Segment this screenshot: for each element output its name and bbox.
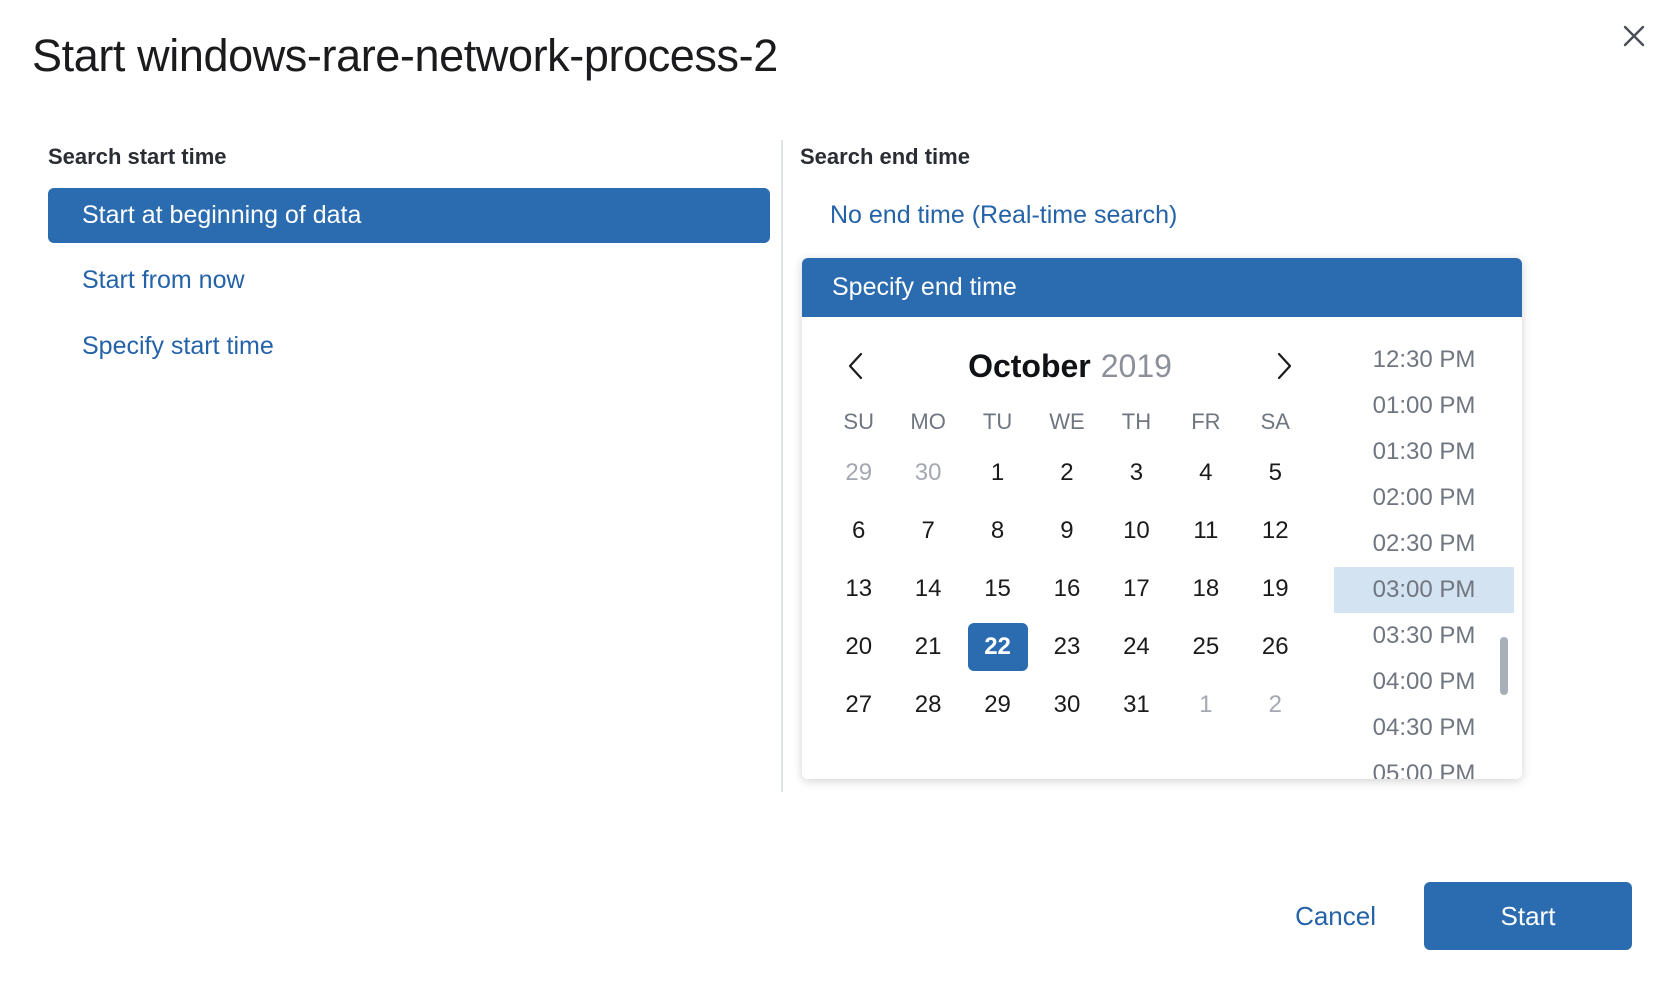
calendar-day-label: 27: [829, 681, 889, 729]
calendar-day[interactable]: 23: [1032, 621, 1101, 673]
calendar-day[interactable]: 12: [1241, 505, 1310, 557]
start-option-beginning-of-data[interactable]: Start at beginning of data: [48, 188, 770, 243]
calendar-day-label: 15: [968, 565, 1028, 613]
calendar-day-label: 20: [829, 623, 889, 671]
time-option[interactable]: 04:30 PM: [1334, 705, 1514, 751]
calendar-day[interactable]: 29: [963, 679, 1032, 731]
search-end-time-heading: Search end time: [800, 144, 1630, 170]
column-divider: [781, 140, 783, 792]
calendar-day[interactable]: 18: [1171, 563, 1240, 615]
calendar-day[interactable]: 30: [1032, 679, 1101, 731]
time-list-scrollbar[interactable]: [1500, 637, 1508, 695]
calendar-day-label: 7: [898, 507, 958, 555]
time-list-container: 12:30 PM01:00 PM01:30 PM02:00 PM02:30 PM…: [1320, 317, 1522, 779]
calendar-day[interactable]: 31: [1102, 679, 1171, 731]
start-button[interactable]: Start: [1424, 882, 1632, 950]
calendar-day-label: 28: [898, 681, 958, 729]
dialog-title: Start windows-rare-network-process-2: [32, 30, 778, 82]
time-option[interactable]: 01:00 PM: [1334, 383, 1514, 429]
calendar-day-label: 8: [968, 507, 1028, 555]
calendar-day[interactable]: 30: [893, 447, 962, 499]
dialog-footer: Cancel Start: [1291, 882, 1632, 950]
close-icon[interactable]: [1614, 16, 1654, 56]
start-option-specify-start-time[interactable]: Specify start time: [48, 319, 770, 374]
calendar-day[interactable]: 25: [1171, 621, 1240, 673]
calendar-day[interactable]: 28: [893, 679, 962, 731]
calendar-day[interactable]: 8: [963, 505, 1032, 557]
start-option-from-now[interactable]: Start from now: [48, 253, 770, 308]
calendar-day-label: 14: [898, 565, 958, 613]
calendar-day[interactable]: 1: [963, 447, 1032, 499]
end-option-specify-end-time[interactable]: Specify end time: [802, 258, 1522, 317]
calendar-day-label: 11: [1176, 507, 1236, 555]
calendar-day-label: 5: [1245, 449, 1305, 497]
calendar-day-label: 30: [898, 449, 958, 497]
calendar-day[interactable]: 7: [893, 505, 962, 557]
calendar-day[interactable]: 13: [824, 563, 893, 615]
calendar-day-label: 4: [1176, 449, 1236, 497]
calendar-day-label: 22: [968, 623, 1028, 671]
end-time-picker-card: Specify end time October2019: [802, 258, 1522, 779]
weekday-label: MO: [893, 403, 962, 441]
calendar-day[interactable]: 6: [824, 505, 893, 557]
search-end-time-column: Search end time No end time (Real-time s…: [800, 144, 1630, 253]
weekday-label: TU: [963, 403, 1032, 441]
calendar-day-label: 2: [1037, 449, 1097, 497]
calendar-day-label: 30: [1037, 681, 1097, 729]
end-option-no-end-time[interactable]: No end time (Real-time search): [800, 188, 1630, 243]
calendar-week-row: 293012345: [824, 447, 1310, 499]
calendar-grid: 2930123456789101112131415161718192021222…: [824, 447, 1310, 731]
calendar-day[interactable]: 16: [1032, 563, 1101, 615]
calendar-day[interactable]: 27: [824, 679, 893, 731]
calendar-day[interactable]: 2: [1241, 679, 1310, 731]
calendar-year: 2019: [1101, 348, 1172, 384]
time-option[interactable]: 02:00 PM: [1334, 475, 1514, 521]
weekday-label: SU: [824, 403, 893, 441]
calendar-title: October2019: [968, 348, 1172, 385]
calendar-day-label: 1: [1176, 681, 1236, 729]
calendar-day[interactable]: 1: [1171, 679, 1240, 731]
calendar-day[interactable]: 17: [1102, 563, 1171, 615]
end-time-option-list: No end time (Real-time search): [800, 188, 1630, 243]
calendar-day[interactable]: 24: [1102, 621, 1171, 673]
calendar-month: October: [968, 348, 1091, 384]
calendar-day-label: 9: [1037, 507, 1097, 555]
chevron-right-icon[interactable]: [1266, 348, 1302, 384]
calendar-day-label: 23: [1037, 623, 1097, 671]
calendar-day-label: 21: [898, 623, 958, 671]
calendar-day-label: 16: [1037, 565, 1097, 613]
start-time-option-list: Start at beginning of data Start from no…: [48, 188, 770, 374]
time-list: 12:30 PM01:00 PM01:30 PM02:00 PM02:30 PM…: [1320, 337, 1522, 779]
calendar-weekday-header: SU MO TU WE TH FR SA: [824, 403, 1310, 441]
calendar-day-label: 29: [829, 449, 889, 497]
time-option[interactable]: 02:30 PM: [1334, 521, 1514, 567]
calendar-day-label: 18: [1176, 565, 1236, 613]
calendar-day[interactable]: 29: [824, 447, 893, 499]
time-option[interactable]: 04:00 PM: [1334, 659, 1514, 705]
date-calendar: October2019 SU MO TU WE TH FR SA: [802, 317, 1320, 779]
search-start-time-column: Search start time Start at beginning of …: [48, 144, 770, 384]
calendar-day-label: 24: [1106, 623, 1166, 671]
calendar-day-label: 13: [829, 565, 889, 613]
picker-body: October2019 SU MO TU WE TH FR SA: [802, 317, 1522, 779]
calendar-day[interactable]: 14: [893, 563, 962, 615]
calendar-day[interactable]: 11: [1171, 505, 1240, 557]
time-option[interactable]: 01:30 PM: [1334, 429, 1514, 475]
calendar-day[interactable]: 5: [1241, 447, 1310, 499]
calendar-day-label: 25: [1176, 623, 1236, 671]
calendar-day-label: 10: [1106, 507, 1166, 555]
time-option[interactable]: 05:00 PM: [1334, 751, 1514, 779]
calendar-day-label: 26: [1245, 623, 1305, 671]
calendar-day-label: 31: [1106, 681, 1166, 729]
calendar-day[interactable]: 2: [1032, 447, 1101, 499]
calendar-day[interactable]: 26: [1241, 621, 1310, 673]
calendar-day[interactable]: 3: [1102, 447, 1171, 499]
calendar-day-label: 29: [968, 681, 1028, 729]
calendar-day-label: 12: [1245, 507, 1305, 555]
calendar-day[interactable]: 20: [824, 621, 893, 673]
calendar-header: October2019: [824, 335, 1310, 391]
calendar-day[interactable]: 15: [963, 563, 1032, 615]
time-option-selected[interactable]: 03:00 PM: [1334, 567, 1514, 613]
weekday-label: WE: [1032, 403, 1101, 441]
weekday-label: SA: [1241, 403, 1310, 441]
calendar-day[interactable]: 9: [1032, 505, 1101, 557]
chevron-left-icon[interactable]: [838, 348, 874, 384]
calendar-day[interactable]: 21: [893, 621, 962, 673]
calendar-day[interactable]: 19: [1241, 563, 1310, 615]
calendar-day-label: 3: [1106, 449, 1166, 497]
calendar-day[interactable]: 10: [1102, 505, 1171, 557]
calendar-day[interactable]: 4: [1171, 447, 1240, 499]
start-search-dialog: Start windows-rare-network-process-2 Sea…: [0, 0, 1666, 994]
weekday-label: TH: [1102, 403, 1171, 441]
calendar-day-label: 19: [1245, 565, 1305, 613]
calendar-day-label: 6: [829, 507, 889, 555]
calendar-week-row: 272829303112: [824, 679, 1310, 731]
weekday-label: FR: [1171, 403, 1240, 441]
calendar-week-row: 6789101112: [824, 505, 1310, 557]
calendar-day-label: 17: [1106, 565, 1166, 613]
time-option[interactable]: 12:30 PM: [1334, 337, 1514, 383]
calendar-day-label: 1: [968, 449, 1028, 497]
search-start-time-heading: Search start time: [48, 144, 770, 170]
time-option[interactable]: 03:30 PM: [1334, 613, 1514, 659]
calendar-day-selected[interactable]: 22: [963, 621, 1032, 673]
calendar-week-row: 20212223242526: [824, 621, 1310, 673]
calendar-day-label: 2: [1245, 681, 1305, 729]
cancel-button[interactable]: Cancel: [1291, 893, 1380, 940]
calendar-week-row: 13141516171819: [824, 563, 1310, 615]
